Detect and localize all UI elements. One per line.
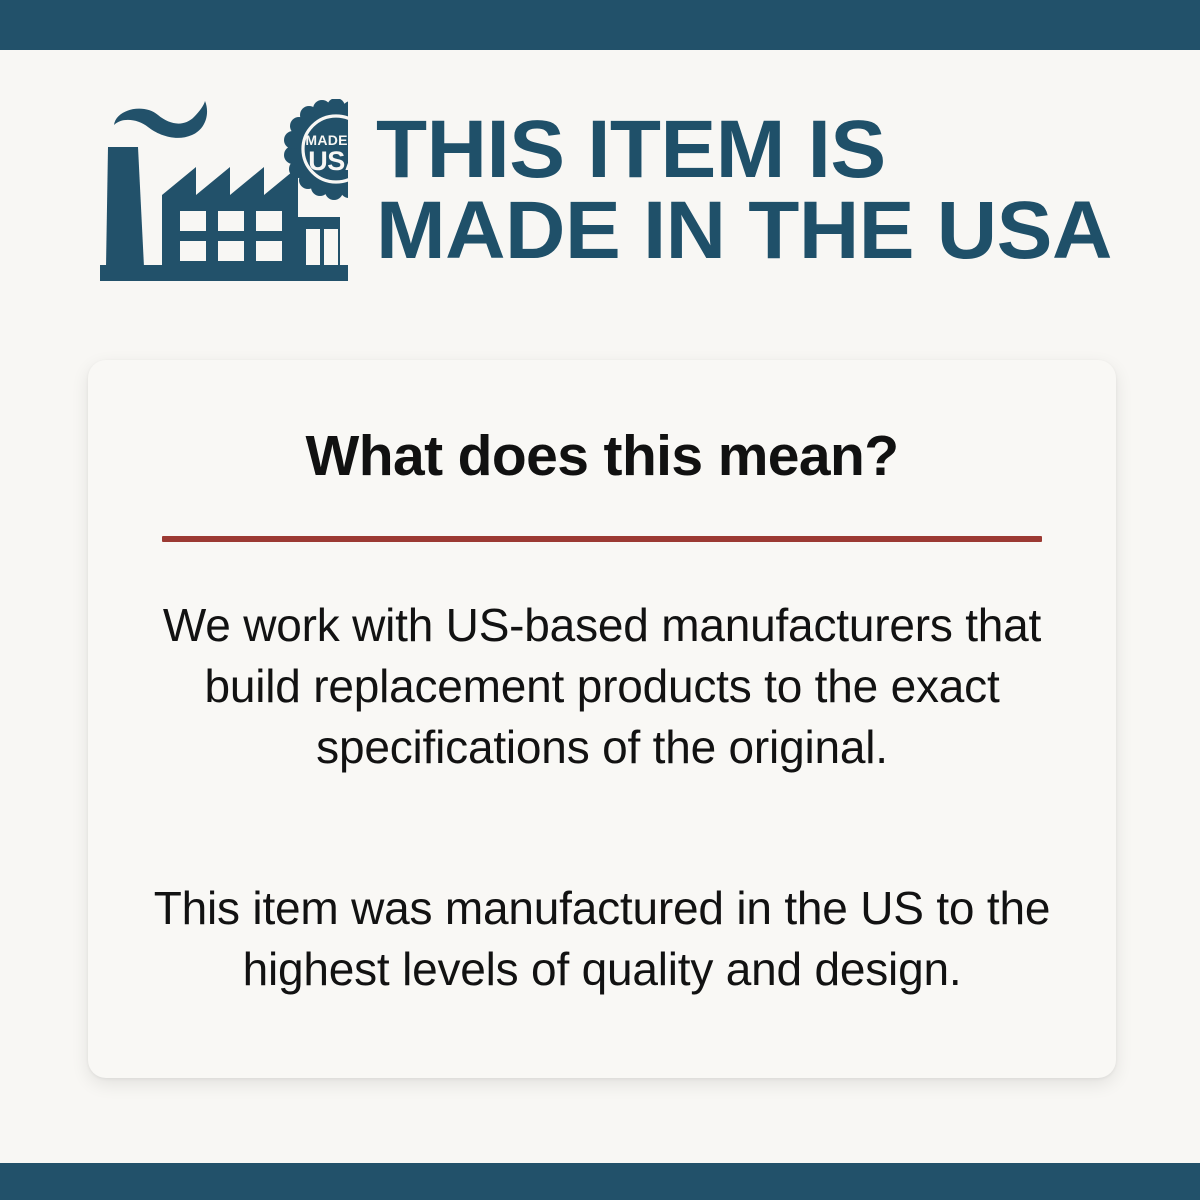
bottom-accent-bar [0, 1163, 1200, 1200]
card-heading: What does this mean? [88, 428, 1116, 485]
page-title-line-2: MADE IN THE USA [376, 191, 1112, 271]
card-paragraph-1: We work with US-based manufacturers that… [140, 595, 1064, 779]
top-accent-bar [0, 0, 1200, 50]
factory-icon: MADE IN USA [100, 99, 348, 287]
heading-divider [162, 536, 1042, 542]
page-title-line-1: THIS ITEM IS [376, 110, 1112, 190]
header: MADE IN USA THIS ITEM IS MADE IN THE USA [100, 95, 1150, 290]
card-paragraph-2: This item was manufactured in the US to … [140, 878, 1064, 1000]
info-card: What does this mean? We work with US-bas… [88, 360, 1116, 1078]
factory-logo: MADE IN USA [100, 99, 348, 287]
badge-line-2: USA [308, 146, 348, 176]
page-title: THIS ITEM IS MADE IN THE USA [376, 110, 1097, 271]
